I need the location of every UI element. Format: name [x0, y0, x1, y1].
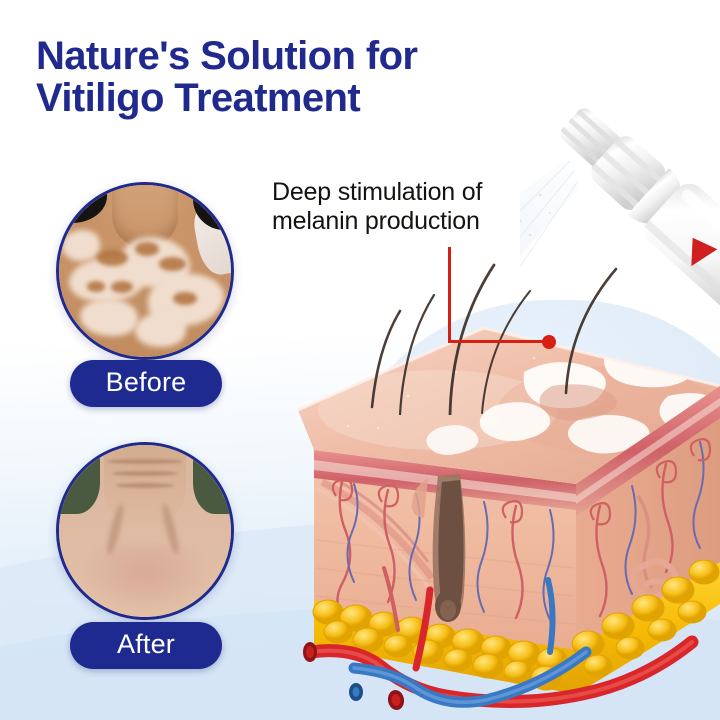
after-photo-image: [59, 445, 231, 617]
after-photo: [56, 442, 234, 620]
before-photo: [56, 182, 234, 360]
before-badge: Before: [70, 360, 222, 407]
garment-edge: [191, 203, 234, 277]
pigment-island: [159, 257, 187, 271]
neck-crease: [107, 459, 183, 464]
pigment-island: [173, 292, 197, 306]
leader-line-endpoint-dot: [542, 335, 556, 349]
vitiligo-patch: [80, 299, 138, 337]
vitiligo-patch: [135, 312, 187, 346]
chest-blush: [80, 545, 211, 614]
pigment-island: [135, 242, 159, 256]
pigment-island: [87, 281, 106, 291]
vitiligo-patch: [62, 230, 100, 261]
leader-line-vertical: [448, 247, 451, 343]
after-badge: After: [70, 622, 222, 669]
page-title: Nature's Solution for Vitiligo Treatment: [36, 35, 556, 120]
leader-line-horizontal: [448, 340, 550, 343]
advertisement-canvas: Deep stimulation of melanin production N…: [0, 0, 720, 720]
neck-crease: [116, 483, 174, 488]
neck-crease: [112, 471, 177, 476]
annotation-text: Deep stimulation of melanin production: [272, 178, 552, 236]
before-photo-image: [59, 185, 231, 357]
pigment-island: [97, 250, 128, 265]
